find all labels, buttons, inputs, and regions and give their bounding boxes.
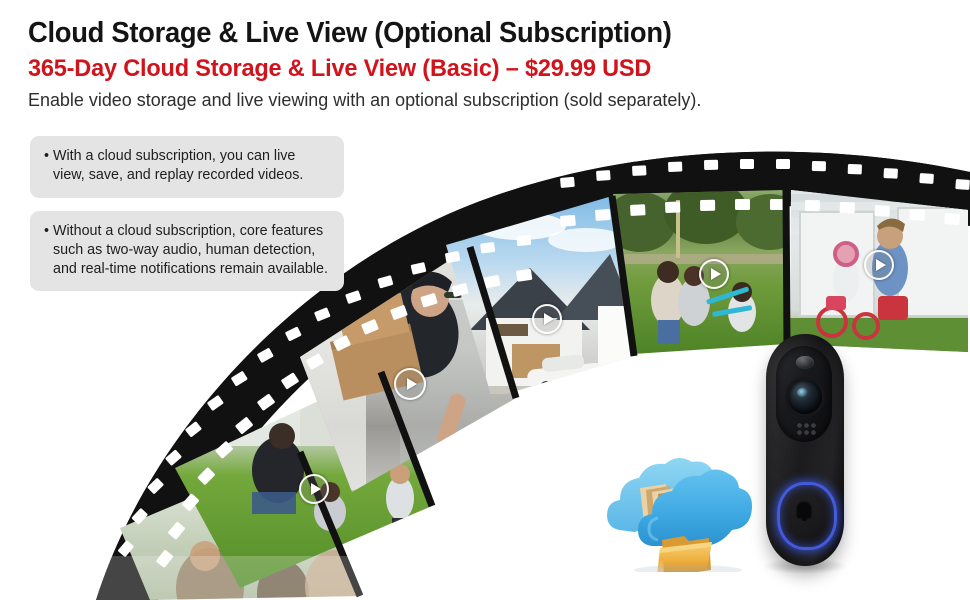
play-button-bike[interactable] bbox=[864, 250, 894, 280]
page-title: Cloud Storage & Live View (Optional Subs… bbox=[28, 18, 786, 49]
bullet-text-1: • With a cloud subscription, you can liv… bbox=[44, 147, 328, 186]
infrared-leds-icon bbox=[796, 422, 816, 435]
play-button-house[interactable] bbox=[532, 304, 562, 334]
play-button-delivery[interactable] bbox=[394, 368, 426, 400]
bell-icon bbox=[797, 502, 811, 518]
bullet-box-without-subscription: • Without a cloud subscription, core fea… bbox=[30, 211, 344, 292]
motion-sensor-icon bbox=[796, 356, 814, 369]
price-headline: 365-Day Cloud Storage & Live View (Basic… bbox=[28, 55, 786, 82]
camera-lens-icon bbox=[788, 380, 822, 414]
product-feature-banner: Cloud Storage & Live View (Optional Subs… bbox=[0, 0, 970, 600]
headings-block: Cloud Storage & Live View (Optional Subs… bbox=[28, 18, 818, 111]
cloud-storage-icon bbox=[600, 444, 752, 572]
bullet-list: • With a cloud subscription, you can liv… bbox=[30, 136, 344, 304]
bullet-text-2: • Without a cloud subscription, core fea… bbox=[44, 222, 328, 280]
subtitle: Enable video storage and live viewing wi… bbox=[28, 89, 794, 111]
play-button-mom-kids[interactable] bbox=[299, 474, 329, 504]
bullet-box-with-subscription: • With a cloud subscription, you can liv… bbox=[30, 136, 344, 198]
video-doorbell-device bbox=[752, 330, 864, 580]
play-button-park[interactable] bbox=[699, 259, 729, 289]
